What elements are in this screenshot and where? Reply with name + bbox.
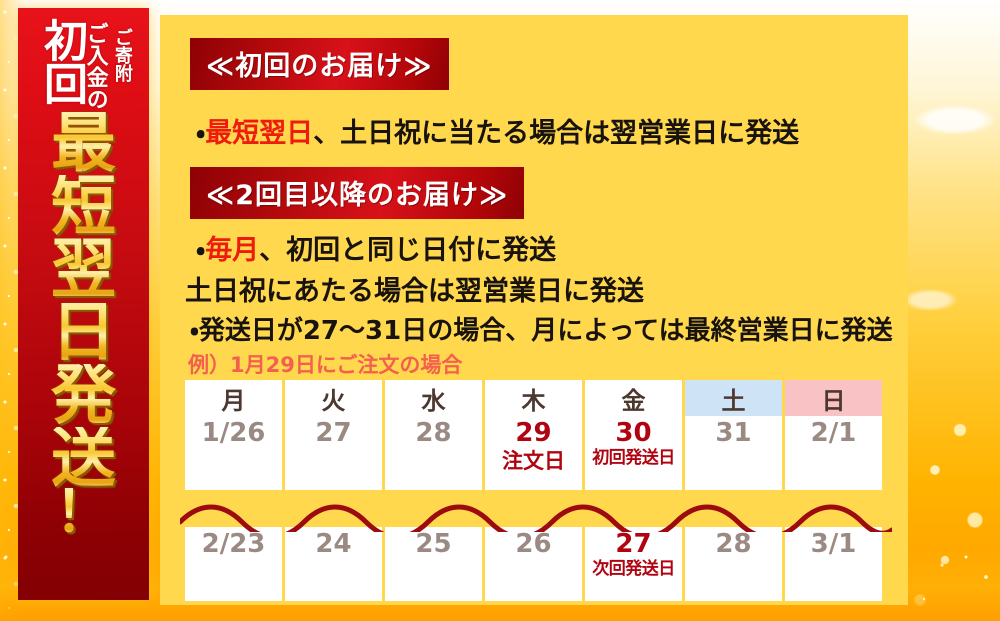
gold-char-3: 翌 bbox=[51, 238, 116, 301]
wavy-divider-icon bbox=[180, 498, 892, 532]
banner-kifu-label: ご寄附 bbox=[113, 28, 130, 82]
day-number: 28 bbox=[415, 419, 451, 449]
day-number: 30 bbox=[615, 419, 651, 449]
calendar-cell: 1/26 bbox=[185, 416, 282, 490]
calendar-cell: 25 bbox=[385, 527, 482, 601]
calendar-header-tue: 火 bbox=[285, 380, 382, 416]
day-number: 25 bbox=[415, 530, 451, 560]
calendar-header-fri: 金 bbox=[585, 380, 682, 416]
promo-banner-root: 初回 ご入金の ご寄附 最 短 翌 日 発 送 ！ ≪初回のお届け≫ ・最短翌日… bbox=[0, 0, 1000, 621]
example-caption: 例）1月29日にご注文の場合 bbox=[188, 349, 462, 379]
calendar-cell: 28 bbox=[685, 527, 782, 601]
day-number: 31 bbox=[715, 419, 751, 449]
banner-top-text-group: 初回 ご入金の ご寄附 bbox=[18, 16, 149, 110]
calendar-week-1: 1/26 27 28 29 注文日 30 初回発送日 bbox=[185, 416, 885, 490]
calendar-header-wed: 水 bbox=[385, 380, 482, 416]
calendar-header-sun: 日 bbox=[785, 380, 882, 416]
banner-gold-headline: 最 短 翌 日 発 送 ！ bbox=[18, 112, 149, 598]
gold-char-5: 発 bbox=[51, 364, 116, 427]
banner-nyukin-label: ご入金の bbox=[84, 22, 105, 110]
ribbon-recurring-delivery: ≪2回目以降のお届け≫ bbox=[190, 167, 524, 219]
recurring-detail-line-1: ・毎月、初回と同じ日付に発送 bbox=[196, 228, 556, 267]
day-number: 3/1 bbox=[811, 530, 857, 560]
calendar-cell: 3/1 bbox=[785, 527, 882, 601]
day-number: 27 bbox=[615, 530, 651, 560]
day-number: 2/23 bbox=[202, 530, 266, 560]
recurring-highlight: 毎月 bbox=[205, 235, 259, 266]
day-number: 28 bbox=[715, 530, 751, 560]
day-mark-label: 注文日 bbox=[502, 450, 565, 472]
calendar-cell-order-date: 29 注文日 bbox=[485, 416, 582, 490]
gold-char-2: 短 bbox=[51, 175, 116, 238]
recurring-rest: 、初回と同じ日付に発送 bbox=[259, 235, 556, 266]
left-red-banner: 初回 ご入金の ご寄附 最 短 翌 日 発 送 ！ bbox=[18, 8, 149, 600]
calendar-cell: 27 bbox=[285, 416, 382, 490]
gold-char-4: 日 bbox=[51, 301, 116, 364]
day-mark-label: 次回発送日 bbox=[592, 561, 675, 579]
calendar-cell-first-ship-date: 30 初回発送日 bbox=[585, 416, 682, 490]
day-number: 26 bbox=[515, 530, 551, 560]
first-delivery-highlight: 最短翌日 bbox=[205, 118, 313, 149]
day-number: 27 bbox=[315, 419, 351, 449]
delivery-calendar: 月 火 水 木 金 土 日 1/26 27 28 bbox=[185, 380, 885, 601]
first-delivery-rest: 、土日祝に当たる場合は翌営業日に発送 bbox=[313, 118, 799, 149]
calendar-cell-next-ship-date: 27 次回発送日 bbox=[585, 527, 682, 601]
day-number: 1/26 bbox=[202, 419, 266, 449]
calendar-cell: 2/1 bbox=[785, 416, 882, 490]
recurring-detail-line-2: 土日祝にあたる場合は翌営業日に発送 bbox=[185, 269, 644, 308]
day-number: 24 bbox=[315, 530, 351, 560]
calendar-cell: 24 bbox=[285, 527, 382, 601]
bullet-2: ・ bbox=[196, 235, 205, 266]
ribbon-first-delivery: ≪初回のお届け≫ bbox=[190, 38, 449, 90]
day-mark-label: 初回発送日 bbox=[592, 450, 675, 468]
calendar-cell: 28 bbox=[385, 416, 482, 490]
calendar-header-row: 月 火 水 木 金 土 日 bbox=[185, 380, 885, 416]
calendar-header-thu: 木 bbox=[485, 380, 582, 416]
calendar-week-2: 2/23 24 25 26 27 次回発送日 bbox=[185, 527, 885, 601]
yellow-info-card: ≪初回のお届け≫ ・最短翌日、土日祝に当たる場合は翌営業日に発送 ≪2回目以降の… bbox=[160, 15, 908, 605]
calendar-cell: 26 bbox=[485, 527, 582, 601]
calendar-header-sat: 土 bbox=[685, 380, 782, 416]
recurring-detail-line-3: ・発送日が27〜31日の場合、月によっては最終営業日に発送 bbox=[190, 310, 893, 347]
gold-exclamation-mark: ！ bbox=[54, 488, 112, 534]
day-number: 29 bbox=[515, 419, 551, 449]
calendar-cell: 2/23 bbox=[185, 527, 282, 601]
day-number: 2/1 bbox=[811, 419, 857, 449]
first-delivery-detail-line: ・最短翌日、土日祝に当たる場合は翌営業日に発送 bbox=[196, 111, 799, 150]
banner-shokai-label: 初回 bbox=[30, 18, 82, 104]
gold-char-1: 最 bbox=[51, 112, 116, 175]
bullet-1: ・ bbox=[196, 118, 205, 149]
calendar-header-mon: 月 bbox=[185, 380, 282, 416]
calendar-cell: 31 bbox=[685, 416, 782, 490]
